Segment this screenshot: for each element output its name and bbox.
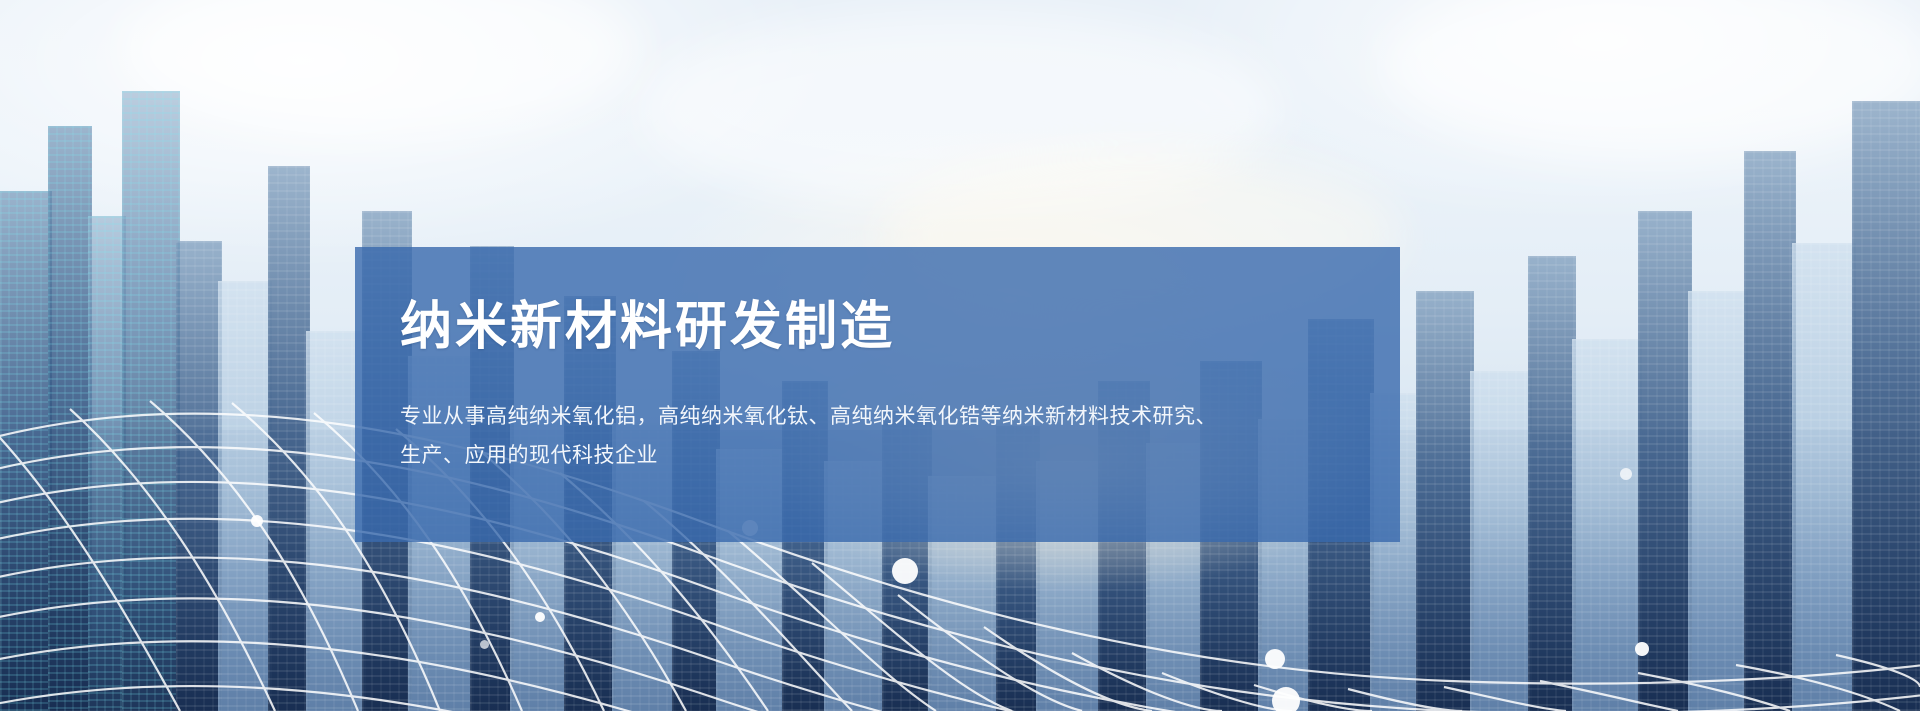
mesh-node-dot: [1635, 642, 1649, 656]
sparkle-dot: [480, 640, 489, 649]
page-title: 纳米新材料研发制造: [400, 299, 1400, 356]
mesh-node-dot: [1265, 649, 1285, 669]
hero-text-panel: 纳米新材料研发制造 专业从事高纯纳米氧化铝，高纯纳米氧化钛、高纯纳米氧化锆等纳米…: [355, 247, 1400, 542]
subtitle-line-2: 生产、应用的现代科技企业: [400, 437, 1365, 476]
mesh-node-dot: [251, 515, 263, 527]
mesh-node-dot: [535, 612, 545, 622]
subtitle-line-1: 专业从事高纯纳米氧化铝，高纯纳米氧化钛、高纯纳米氧化锆等纳米新材料技术研究、: [400, 398, 1365, 437]
hero-banner: 纳米新材料研发制造 专业从事高纯纳米氧化铝，高纯纳米氧化钛、高纯纳米氧化锆等纳米…: [0, 0, 1920, 711]
page-subtitle: 专业从事高纯纳米氧化铝，高纯纳米氧化钛、高纯纳米氧化锆等纳米新材料技术研究、 生…: [400, 398, 1365, 476]
mesh-node-dot: [892, 558, 918, 584]
sparkle-dot: [1620, 468, 1632, 480]
